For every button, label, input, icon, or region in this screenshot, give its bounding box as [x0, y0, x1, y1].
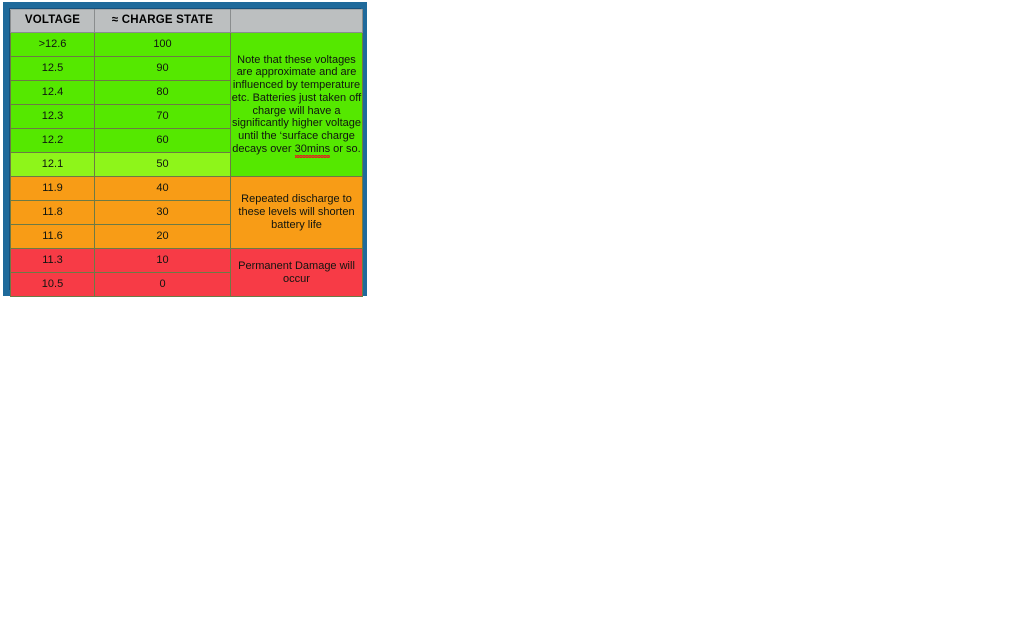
voltage-cell: 11.8 — [11, 201, 95, 225]
voltage-cell: >12.6 — [11, 33, 95, 57]
voltage-cell: 11.9 — [11, 177, 95, 201]
note-green-text-after: or so. — [330, 143, 361, 155]
note-green-text-before: Note that these voltages are approximate… — [232, 54, 361, 155]
charge-state-cell: 10 — [95, 249, 231, 273]
charge-state-cell: 30 — [95, 201, 231, 225]
table-header-row: VOLTAGE ≈ CHARGE STATE — [11, 10, 363, 33]
charge-state-cell: 60 — [95, 129, 231, 153]
voltage-cell: 11.6 — [11, 225, 95, 249]
note-cell-red: Permanent Damage will occur — [231, 249, 363, 297]
charge-state-cell: 40 — [95, 177, 231, 201]
voltage-cell: 12.2 — [11, 129, 95, 153]
note-cell-orange: Repeated discharge to these levels will … — [231, 177, 363, 249]
charge-state-cell: 90 — [95, 57, 231, 81]
charge-state-cell: 80 — [95, 81, 231, 105]
charge-state-cell: 0 — [95, 273, 231, 297]
voltage-cell: 12.4 — [11, 81, 95, 105]
charge-state-cell: 20 — [95, 225, 231, 249]
voltage-cell: 12.3 — [11, 105, 95, 129]
header-notes — [231, 10, 363, 33]
table-body: >12.6 100 Note that these voltages are a… — [11, 33, 363, 297]
charge-state-cell: 70 — [95, 105, 231, 129]
note-green-flagged-word: 30mins — [295, 143, 330, 156]
header-charge-state: ≈ CHARGE STATE — [95, 10, 231, 33]
battery-charge-state-table: VOLTAGE ≈ CHARGE STATE >12.6 100 Note th… — [10, 9, 363, 297]
voltage-cell: 10.5 — [11, 273, 95, 297]
table-row: >12.6 100 Note that these voltages are a… — [11, 33, 363, 57]
charge-state-cell: 50 — [95, 153, 231, 177]
voltage-cell: 12.1 — [11, 153, 95, 177]
table-row: 11.3 10 Permanent Damage will occur — [11, 249, 363, 273]
table-header: VOLTAGE ≈ CHARGE STATE — [11, 10, 363, 33]
table-frame-inner: VOLTAGE ≈ CHARGE STATE >12.6 100 Note th… — [9, 8, 361, 290]
header-voltage: VOLTAGE — [11, 10, 95, 33]
table-row: 11.9 40 Repeated discharge to these leve… — [11, 177, 363, 201]
note-cell-green: Note that these voltages are approximate… — [231, 33, 363, 177]
voltage-cell: 12.5 — [11, 57, 95, 81]
table-frame: VOLTAGE ≈ CHARGE STATE >12.6 100 Note th… — [3, 2, 367, 296]
charge-state-cell: 100 — [95, 33, 231, 57]
voltage-cell: 11.3 — [11, 249, 95, 273]
